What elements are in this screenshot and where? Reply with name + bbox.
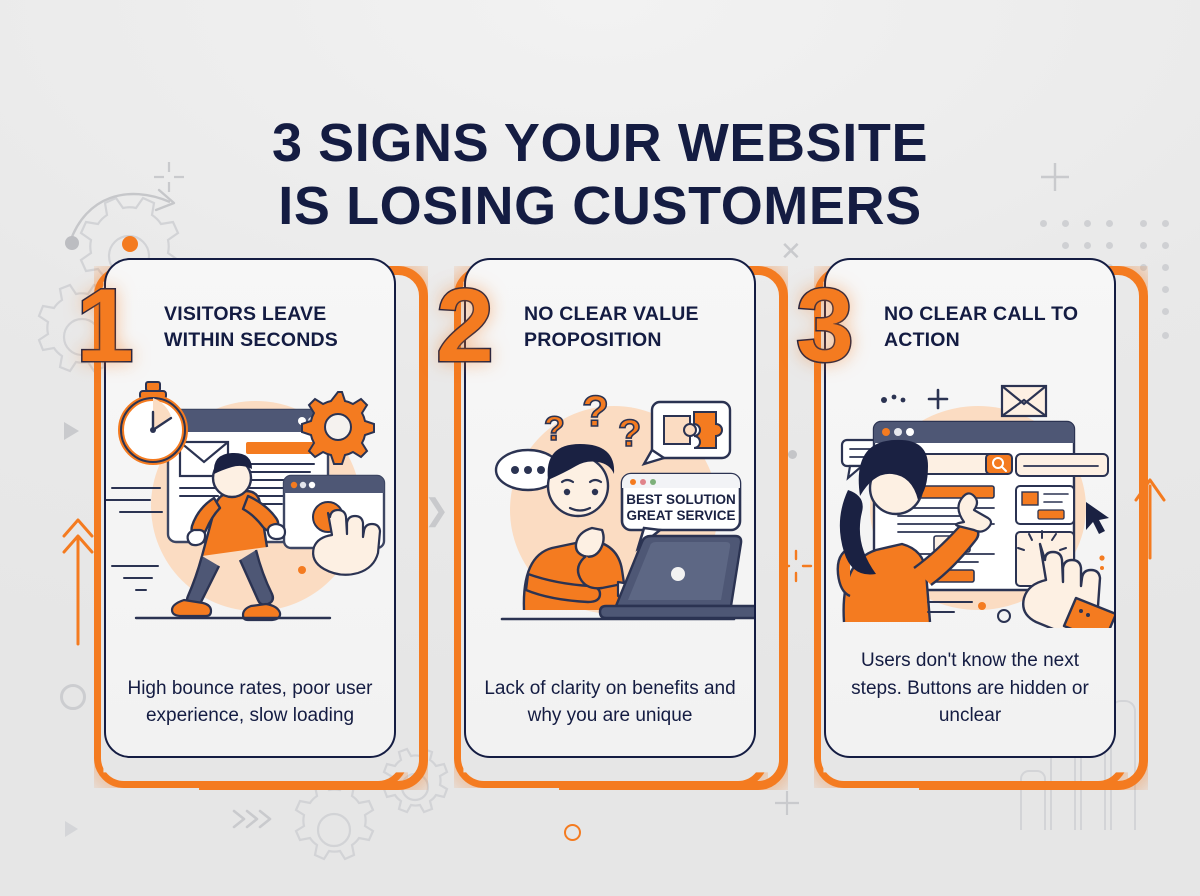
crosshair-icon	[774, 790, 800, 821]
card-3[interactable]: Users don't know the next steps. Buttons…	[824, 258, 1114, 768]
page-title: 3 Signs Your Website Is Losing Customers	[0, 112, 1200, 237]
play-triangle-icon	[60, 818, 82, 840]
callout-line2: GREAT SERVICE	[626, 508, 735, 523]
card-description: Users don't know the next steps. Buttons…	[844, 647, 1096, 730]
infographic-canvas: ✕ ❯	[0, 0, 1200, 896]
orange-dot-icon	[564, 824, 581, 841]
chevron-triple-right-icon	[228, 806, 278, 832]
card-1[interactable]: High bounce rates, poor user experience,…	[104, 258, 394, 768]
page-title-line1: 3 Signs Your Website	[272, 113, 928, 173]
card-number: 2	[436, 274, 494, 378]
card-title: No Clear Value Proposition	[524, 302, 740, 353]
svg-text:?: ?	[544, 410, 565, 448]
cards-row: High bounce rates, poor user experience,…	[0, 258, 1200, 783]
card-title: No Clear Call To Action	[884, 302, 1100, 353]
card-description: Lack of clarity on benefits and why you …	[484, 675, 736, 730]
svg-text:?: ?	[582, 387, 609, 436]
card-2[interactable]: ? ? ?	[464, 258, 754, 768]
svg-text:?: ?	[618, 413, 641, 455]
callout-line1: BEST SOLUTION	[626, 492, 736, 507]
illustration-no-value-proposition: ? ? ?	[466, 378, 754, 628]
card-title: Visitors Leave Within Seconds	[164, 302, 380, 353]
card-number: 1	[76, 274, 134, 378]
page-title-line2: Is Losing Customers	[0, 175, 1200, 238]
card-description: High bounce rates, poor user experience,…	[124, 675, 376, 730]
illustration-no-call-to-action	[826, 378, 1114, 628]
illustration-visitors-leave	[106, 378, 394, 628]
card-number: 3	[796, 274, 854, 378]
